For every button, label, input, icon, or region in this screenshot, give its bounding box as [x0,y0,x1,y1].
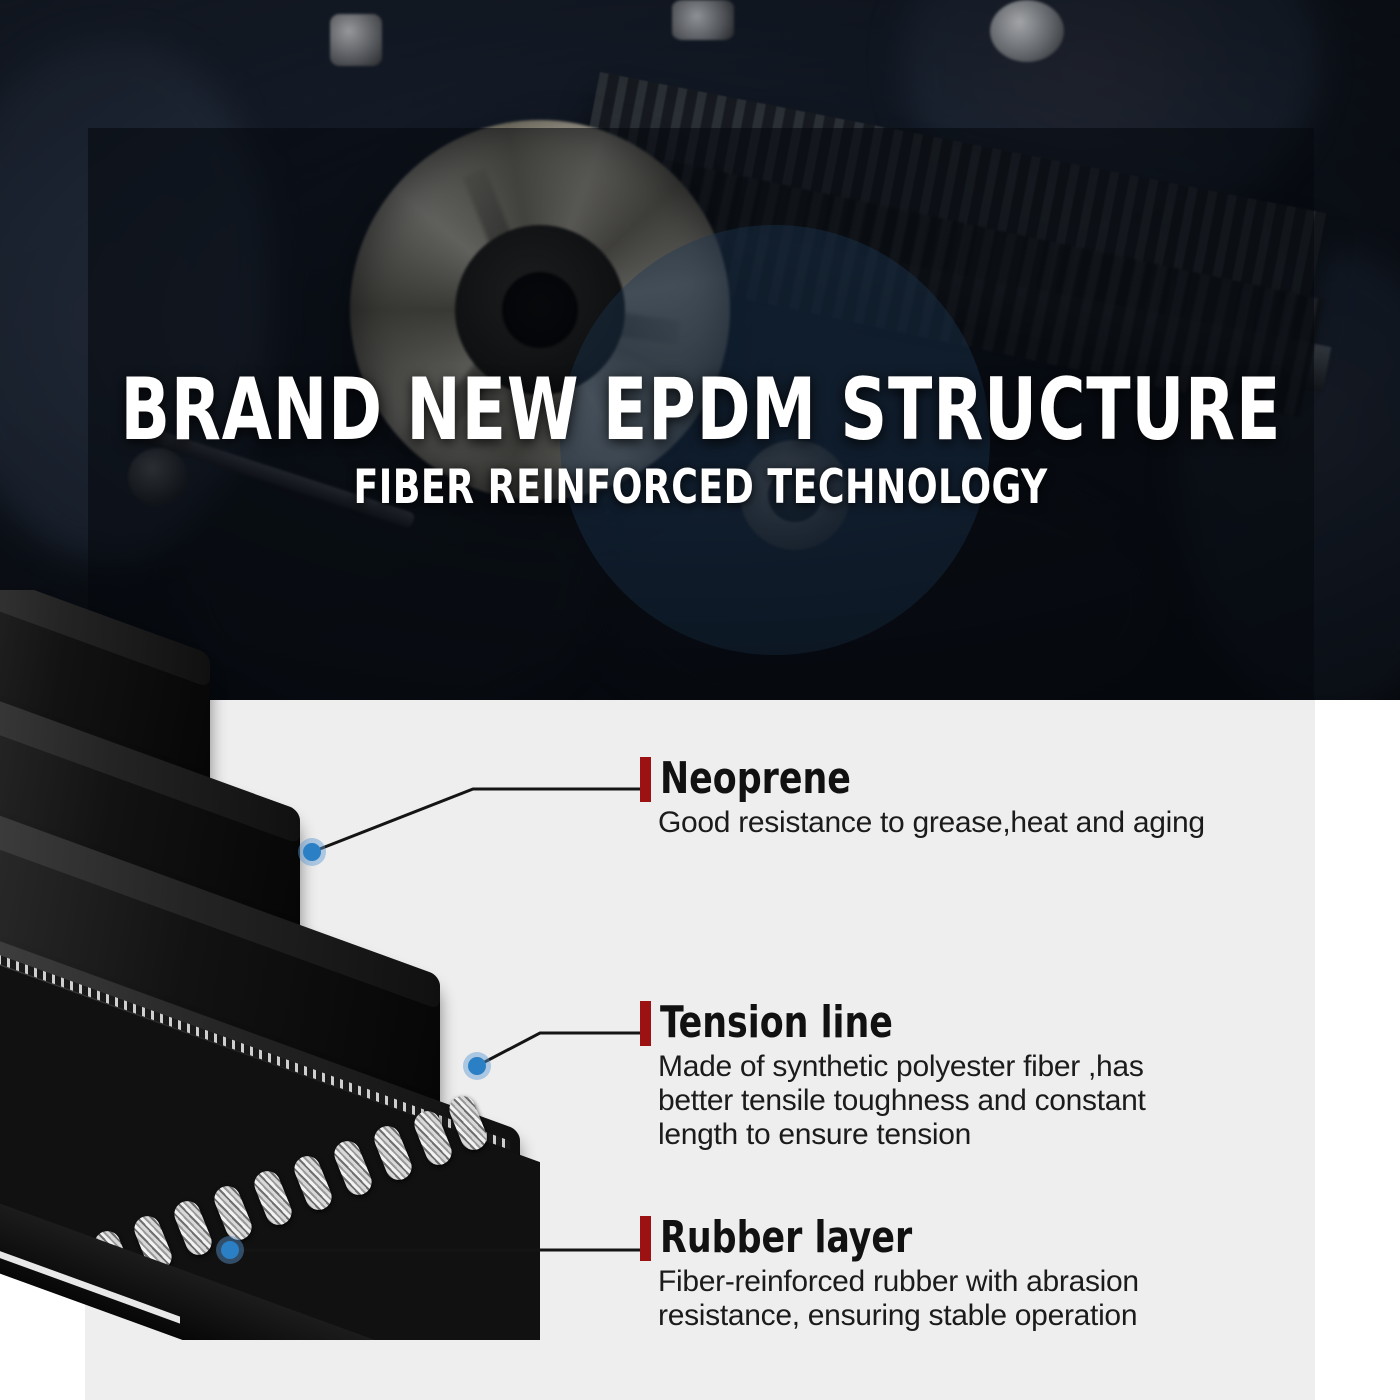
marker-dot-rubber[interactable] [221,1241,239,1259]
callout-body: Made of synthetic polyester fiber ,has b… [658,1050,1146,1153]
callout-title: Rubber layer [660,1216,912,1261]
marker-dot-tension[interactable] [468,1057,486,1075]
callout-body-line: Fiber-reinforced rubber with abrasion [658,1265,1139,1299]
callout-body-line: length to ensure tension [658,1118,1146,1152]
callout-body-line: resistance, ensuring stable operation [658,1299,1139,1333]
page-subtitle: FIBER REINFORCED TECHNOLOGY [354,464,1048,511]
callout-heading: Tension line [640,1001,1146,1046]
belt-cutaway-illustration [0,590,540,1350]
callout-tension-line: Tension line Made of synthetic polyester… [640,1001,1146,1152]
marker-dot-neoprene[interactable] [303,843,321,861]
callout-title: Neoprene [660,757,851,802]
callout-heading: Neoprene [640,757,1205,802]
infographic-page: BRAND NEW EPDM STRUCTURE FIBER REINFORCE… [0,0,1400,1400]
accent-bar-icon [640,1216,651,1261]
callout-body: Good resistance to grease,heat and aging [658,806,1205,840]
callout-body-line: better tensile toughness and constant [658,1084,1146,1118]
callout-body-line: Made of synthetic polyester fiber ,has [658,1050,1146,1084]
page-title: BRAND NEW EPDM STRUCTURE [121,369,1282,452]
callout-rubber-layer: Rubber layer Fiber-reinforced rubber wit… [640,1216,1139,1333]
callout-neoprene: Neoprene Good resistance to grease,heat … [640,757,1205,840]
callout-body: Fiber-reinforced rubber with abrasion re… [658,1265,1139,1333]
accent-bar-icon [640,757,651,802]
callout-body-line: Good resistance to grease,heat and aging [658,806,1205,840]
callout-title: Tension line [660,1001,893,1046]
callout-heading: Rubber layer [640,1216,1139,1261]
accent-bar-icon [640,1001,651,1046]
